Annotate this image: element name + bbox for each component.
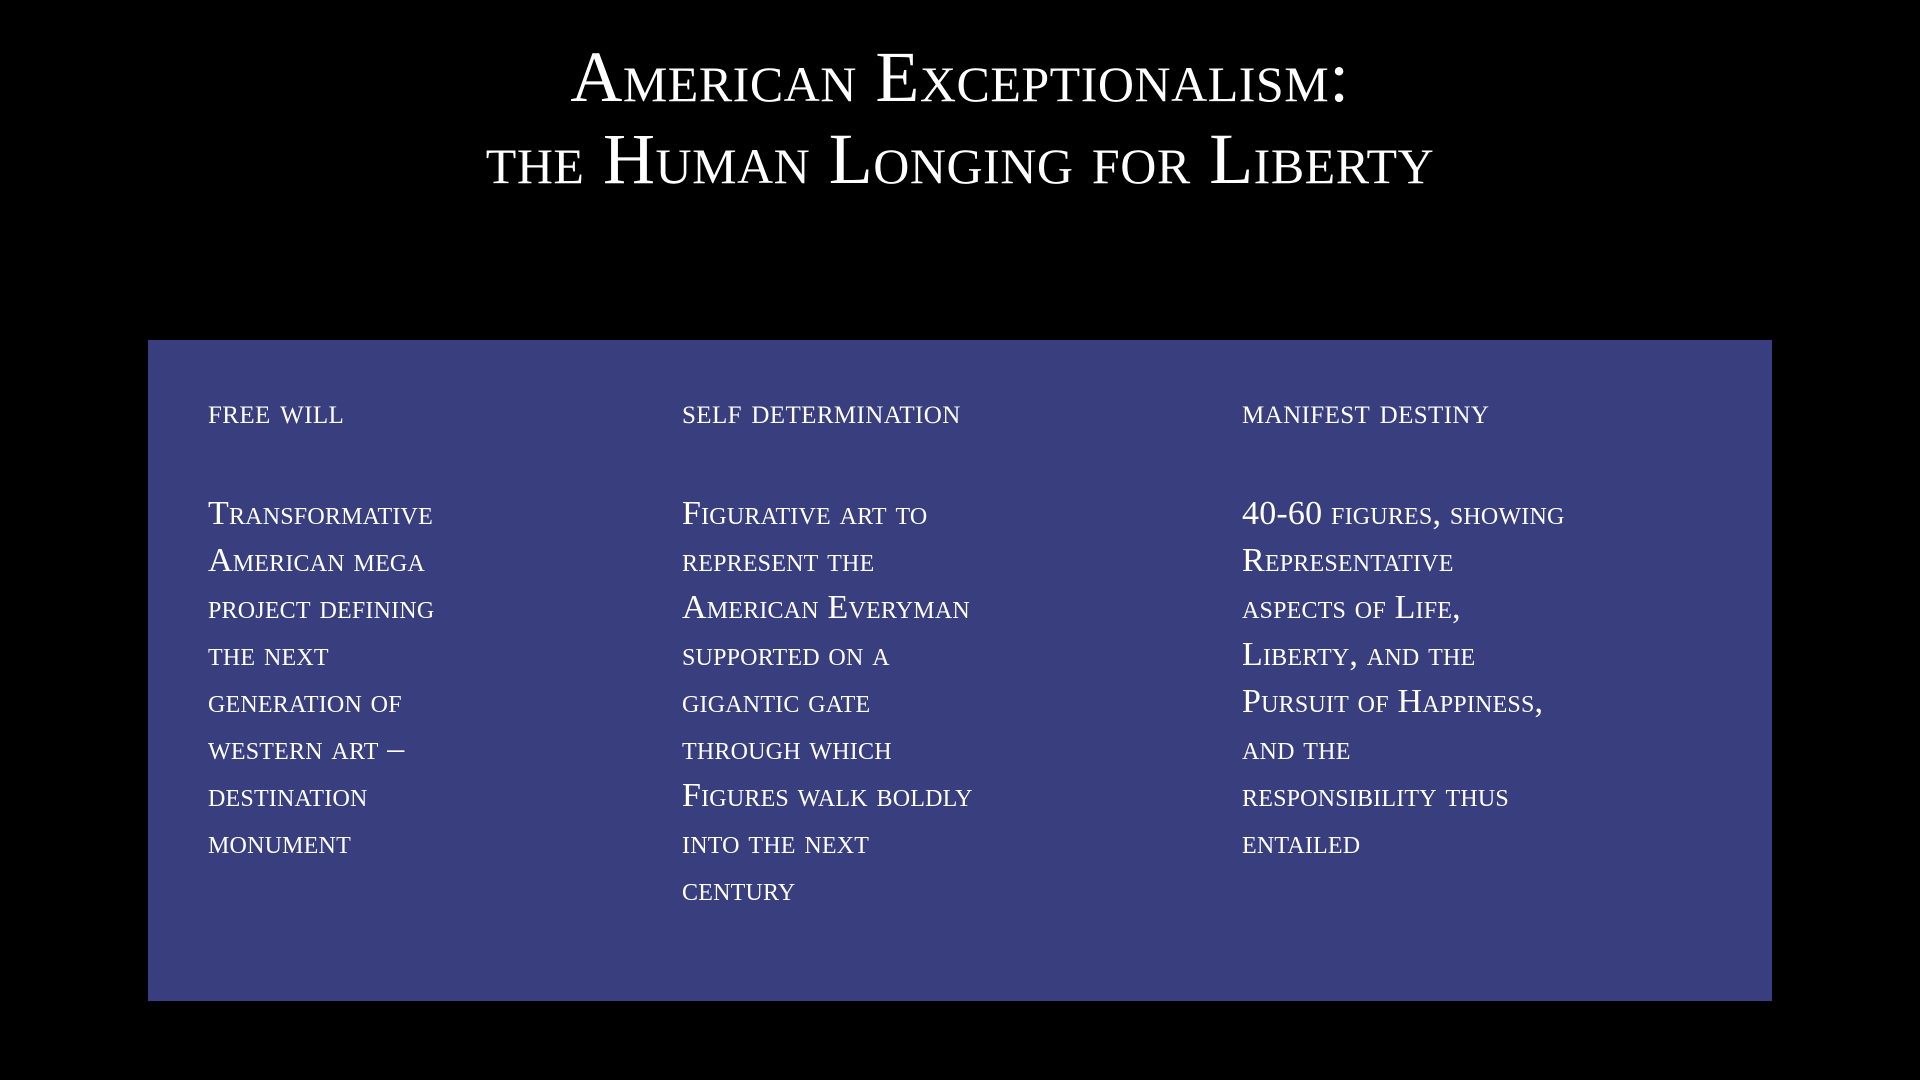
body-line: Figures walk boldly: [682, 772, 1232, 819]
body-line: Figurative art to: [682, 490, 1232, 537]
body-line: gigantic gate: [682, 678, 1232, 725]
column-heading-free-will: free will: [208, 392, 672, 432]
column-body-self-determination: Figurative art to represent the American…: [682, 490, 1232, 913]
body-line: monument: [208, 819, 672, 866]
column-heading-self-determination: self determination: [682, 392, 1232, 432]
body-line: Representative: [1242, 537, 1762, 584]
presentation-slide: American Exceptionalism: the Human Longi…: [0, 0, 1920, 1080]
body-line: aspects of Life,: [1242, 584, 1762, 631]
body-line: into the next: [682, 819, 1232, 866]
slide-title-line-2: the Human Longing for Liberty: [0, 118, 1920, 200]
column-heading-manifest-destiny: manifest destiny: [1242, 392, 1762, 432]
body-line: Pursuit of Happiness,: [1242, 678, 1762, 725]
column-free-will: free will Transformative American mega p…: [208, 392, 682, 971]
body-line: responsibility thus: [1242, 772, 1762, 819]
body-line: and the: [1242, 725, 1762, 772]
body-line: generation of: [208, 678, 672, 725]
body-line: project defining: [208, 584, 672, 631]
body-line: western art –: [208, 725, 672, 772]
body-line: American mega: [208, 537, 672, 584]
body-line: supported on a: [682, 631, 1232, 678]
body-line: through which: [682, 725, 1232, 772]
content-panel: free will Transformative American mega p…: [148, 340, 1772, 1001]
slide-title-line-1: American Exceptionalism:: [0, 36, 1920, 118]
column-manifest-destiny: manifest destiny 40-60 figures, showing …: [1242, 392, 1762, 971]
body-line: Transformative: [208, 490, 672, 537]
body-line: the next: [208, 631, 672, 678]
body-line: represent the: [682, 537, 1232, 584]
slide-title: American Exceptionalism: the Human Longi…: [0, 36, 1920, 200]
column-body-free-will: Transformative American mega project def…: [208, 490, 672, 866]
body-line: 40-60 figures, showing: [1242, 490, 1762, 537]
column-self-determination: self determination Figurative art to rep…: [682, 392, 1242, 971]
column-body-manifest-destiny: 40-60 figures, showing Representative as…: [1242, 490, 1762, 866]
body-line: Liberty, and the: [1242, 631, 1762, 678]
body-line: destination: [208, 772, 672, 819]
body-line: entailed: [1242, 819, 1762, 866]
body-line: century: [682, 866, 1232, 913]
body-line: American Everyman: [682, 584, 1232, 631]
